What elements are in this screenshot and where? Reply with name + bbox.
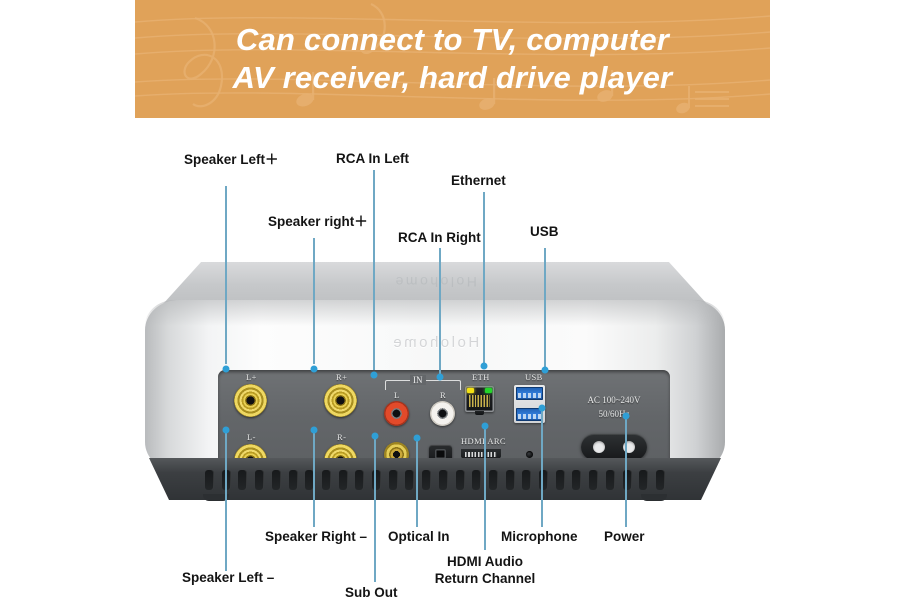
leader-line-speaker-right-minus [313, 432, 315, 527]
device-top-surface: Holohome [163, 262, 707, 304]
leader-line-microphone [541, 410, 543, 527]
ethernet-notch [475, 411, 484, 415]
label-speaker-right-plus: R+ [336, 372, 347, 382]
leader-line-usb [544, 248, 546, 368]
leader-line-speaker-right-plus [313, 238, 315, 364]
leader-line-hdmi-arc [484, 428, 486, 550]
ac-pin-hole-left [593, 441, 605, 453]
ac-power-inlet[interactable] [581, 434, 647, 460]
brand-logo: Holohome [391, 334, 479, 351]
callout-rca-in-left: RCA In Left [336, 151, 409, 167]
callout-ethernet: Ethernet [451, 173, 506, 189]
leader-line-speaker-left-minus [225, 432, 227, 571]
leader-line-sub-out [374, 438, 376, 582]
callout-speaker-left-minus: Speaker Left – [182, 570, 274, 586]
callout-microphone: Microphone [501, 529, 578, 545]
callout-speaker-right-minus: Speaker Right – [265, 529, 367, 545]
microphone-pinhole [526, 451, 533, 458]
banner-line-2: AV receiver, hard drive player [233, 59, 673, 97]
leader-line-rca-in-left [373, 170, 375, 370]
ethernet-led-green [485, 388, 492, 393]
leader-dot-speaker-left-minus [223, 427, 230, 434]
leader-dot-speaker-right-plus [311, 366, 318, 373]
leader-dot-ethernet [481, 363, 488, 370]
label-usb: USB [525, 372, 543, 382]
device-rear-view: Holohome Holohome L+ R+ L- R- IN L R [145, 262, 725, 510]
header-banner: Can connect to TV, computer AV receiver,… [135, 0, 770, 118]
leader-dot-usb [542, 367, 549, 374]
leader-line-power [625, 418, 627, 527]
rca-jack-right[interactable] [430, 401, 455, 426]
callout-speaker-right-plus: Speaker right＋ [268, 214, 368, 230]
callout-hdmi-arc: HDMI AudioReturn Channel [420, 553, 550, 587]
leader-dot-hdmi-arc [482, 423, 489, 430]
callout-speaker-left-plus: Speaker Left＋ [184, 152, 279, 168]
leader-line-speaker-left-plus [225, 186, 227, 364]
callout-rca-in-right: RCA In Right [398, 230, 481, 246]
ac-rating-line-1: AC 100~240V [564, 393, 664, 407]
label-rca-left: L [394, 390, 400, 400]
callout-sub-out: Sub Out [345, 585, 398, 601]
leader-dot-rca-in-right [437, 374, 444, 381]
label-eth: ETH [472, 372, 490, 382]
infographic-canvas: Can connect to TV, computer AV receiver,… [0, 0, 900, 600]
leader-line-optical-in [416, 440, 418, 527]
leader-line-ethernet [483, 192, 485, 367]
leader-dot-microphone [539, 405, 546, 412]
label-speaker-left-minus: L- [247, 432, 256, 442]
leader-dot-speaker-right-minus [311, 427, 318, 434]
ethernet-led-yellow [467, 388, 474, 393]
ethernet-port[interactable] [465, 386, 494, 412]
leader-dot-rca-in-left [371, 372, 378, 379]
binding-post-right-plus[interactable] [324, 384, 357, 417]
leader-dot-power [623, 413, 630, 420]
binding-post-left-plus[interactable] [234, 384, 267, 417]
leader-dot-speaker-left-plus [223, 366, 230, 373]
usb-port-upper[interactable] [516, 387, 543, 400]
device-foot-right [641, 494, 667, 501]
label-speaker-right-minus: R- [337, 432, 346, 442]
label-rca-in-group: IN [410, 375, 426, 385]
label-speaker-left-plus: L+ [246, 372, 257, 382]
label-rca-right: R [440, 390, 446, 400]
leader-line-rca-in-right [439, 248, 441, 375]
leader-dot-sub-out [372, 433, 379, 440]
callout-optical-in: Optical In [388, 529, 450, 545]
callout-power: Power [604, 529, 645, 545]
device-body: Holohome L+ R+ L- R- IN L R [145, 300, 725, 472]
brand-reflection: Holohome [393, 274, 477, 290]
ventilation-grille [205, 470, 665, 490]
leader-dot-optical-in [414, 435, 421, 442]
rca-jack-left[interactable] [384, 401, 409, 426]
callout-usb: USB [530, 224, 559, 240]
ethernet-pins [469, 395, 490, 407]
banner-line-1: Can connect to TV, computer [236, 21, 669, 59]
ac-rating-line-2: 50/60Hz [564, 407, 664, 421]
